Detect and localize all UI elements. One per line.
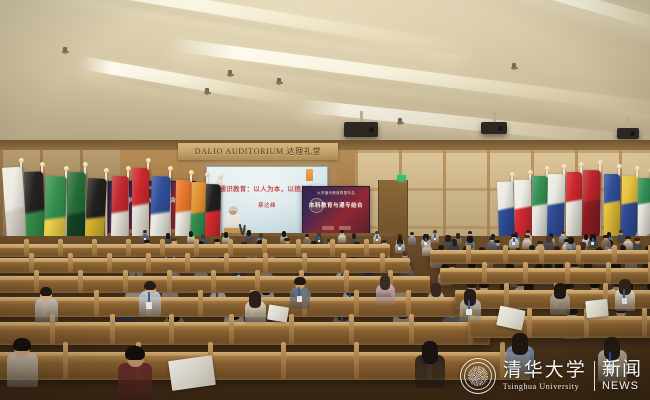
lanyard: [468, 300, 470, 310]
lanyard: [148, 292, 150, 302]
name-badge: [297, 296, 302, 302]
audience-foreground: [0, 230, 650, 400]
audience-hair: [294, 277, 305, 285]
audience-hair: [512, 333, 528, 355]
name-badge: [466, 309, 471, 315]
audience-body: [35, 298, 58, 323]
audience-hair: [380, 275, 391, 290]
program-booklet: [496, 306, 526, 331]
program-booklet: [267, 305, 289, 323]
audience-body: [7, 353, 38, 387]
audience-hair: [464, 289, 476, 306]
audience-hair: [40, 287, 53, 296]
audience-hair: [13, 338, 30, 350]
audience-body: [118, 363, 152, 400]
audience-hair: [619, 279, 630, 295]
audience-hair: [422, 341, 439, 365]
audience-hair: [125, 346, 144, 359]
audience-hair: [249, 291, 261, 308]
program-booklet: [168, 355, 216, 391]
audience-hair: [554, 283, 565, 299]
lanyard: [609, 352, 611, 365]
audience-hair: [604, 337, 620, 360]
name-badge: [622, 298, 627, 304]
auditorium-photo: DALIO AUDITORIUM 达理礼堂 通识教育：以人为本，以德为先 蔡达峰…: [0, 0, 650, 400]
name-badge: [146, 302, 152, 309]
name-badge: [607, 364, 614, 373]
audience-hair: [144, 281, 156, 290]
program-booklet: [585, 299, 609, 318]
